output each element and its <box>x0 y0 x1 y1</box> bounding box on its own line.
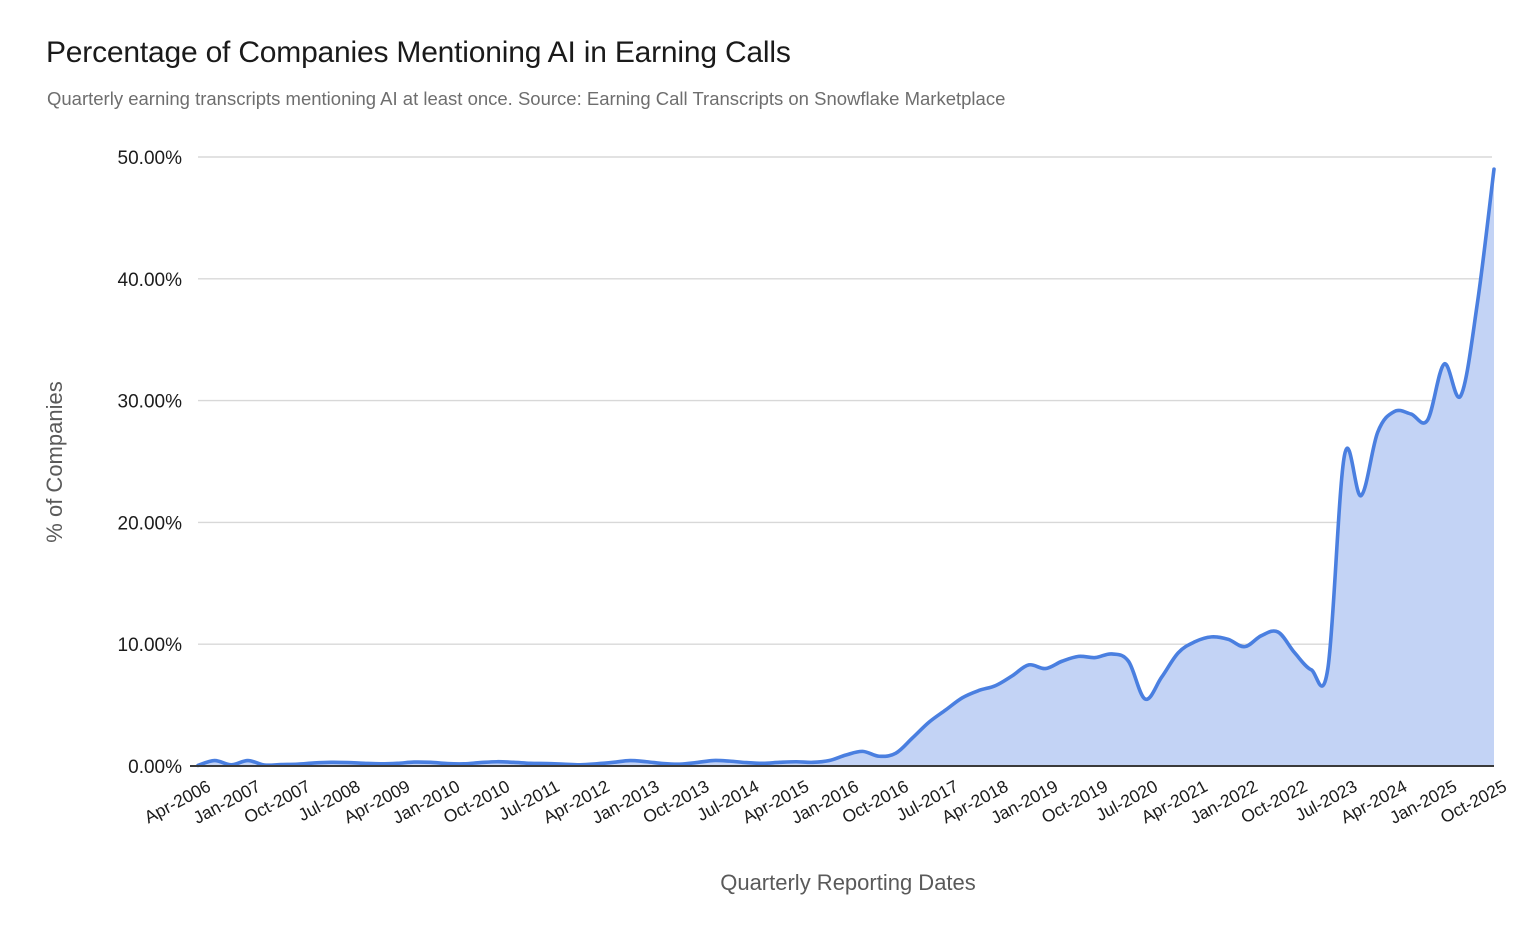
y-tick-label: 50.00% <box>118 148 183 169</box>
y-tick-label: 30.00% <box>118 392 183 413</box>
plot-area: 0.00%10.00%20.00%30.00%40.00%50.00% Apr-… <box>0 0 1536 946</box>
x-axis-tick-labels: Apr-2006Jan-2007Oct-2007Jul-2008Apr-2009… <box>141 776 1510 828</box>
series-area-fill <box>198 169 1494 766</box>
y-tick-label: 20.00% <box>118 513 183 534</box>
y-tick-label: 0.00% <box>128 757 182 778</box>
y-axis-title: % of Companies <box>42 381 67 542</box>
x-axis-title: Quarterly Reporting Dates <box>720 870 976 895</box>
y-tick-label: 40.00% <box>118 270 183 291</box>
y-tick-label: 10.00% <box>118 635 183 656</box>
chart-container: Percentage of Companies Mentioning AI in… <box>0 0 1536 946</box>
area-chart-svg: 0.00%10.00%20.00%30.00%40.00%50.00% Apr-… <box>0 0 1536 946</box>
y-axis-tick-labels: 0.00%10.00%20.00%30.00%40.00%50.00% <box>118 148 183 778</box>
gridlines <box>198 157 1492 644</box>
